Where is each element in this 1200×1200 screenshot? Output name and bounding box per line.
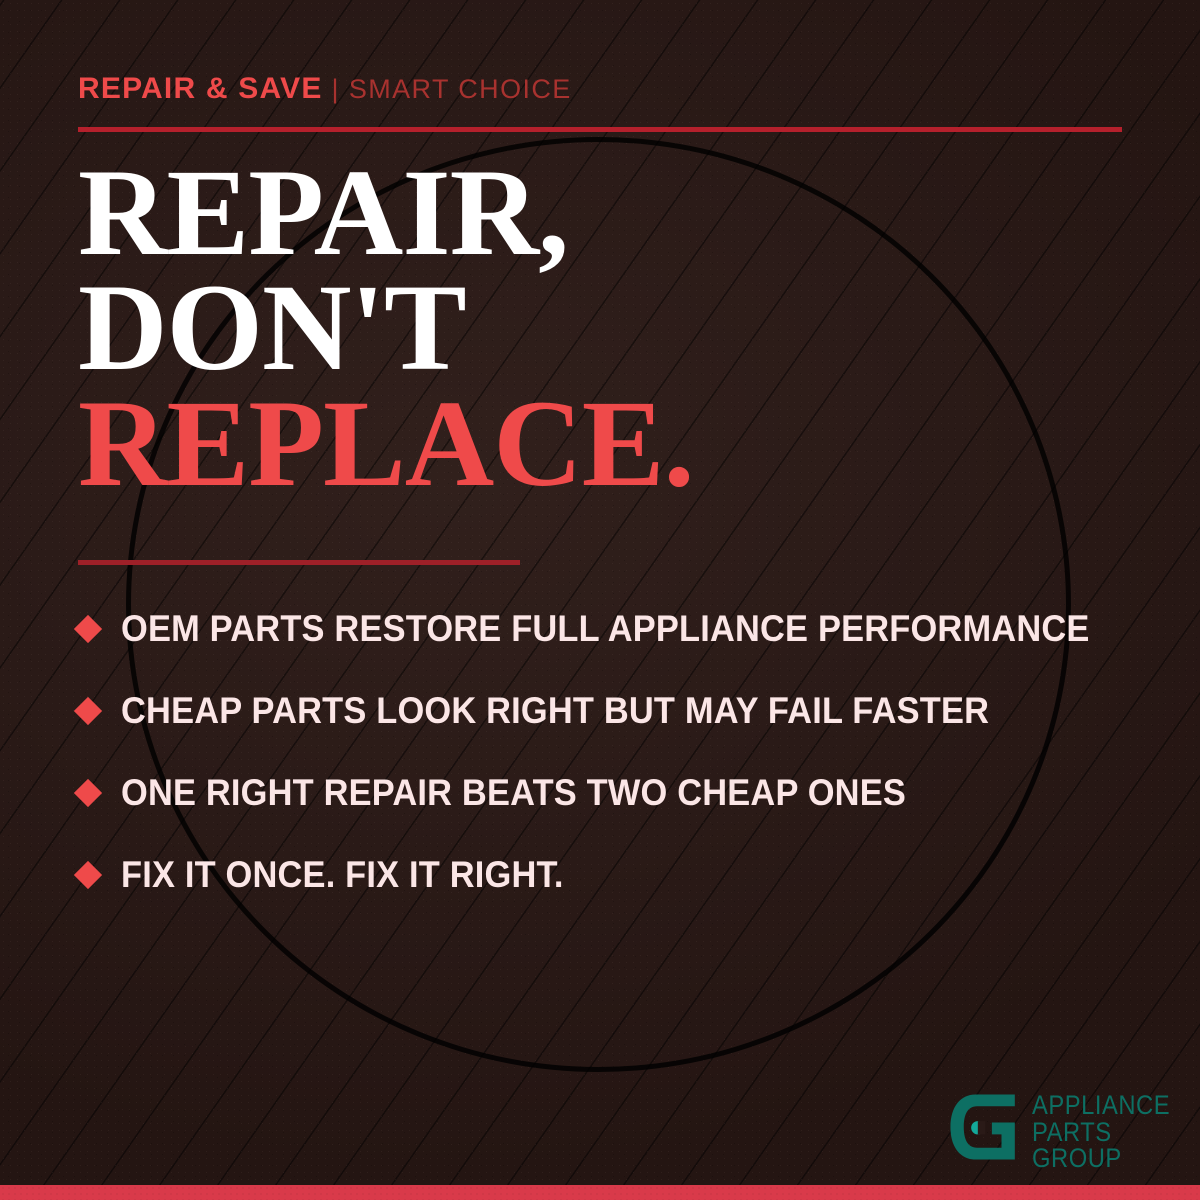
list-item-label: OEM PARTS RESTORE FULL APPLIANCE PERFORM… [121, 608, 1090, 650]
list-item: CHEAP PARTS LOOK RIGHT BUT MAY FAIL FAST… [78, 670, 1148, 752]
bottom-accent-stripe [0, 1185, 1200, 1200]
list-item: FIX IT ONCE. FIX IT RIGHT. [78, 834, 1148, 916]
brand-logo-text: APPLIANCE PARTS GROUP [1032, 1090, 1170, 1172]
brand-line-1: APPLIANCE [1032, 1092, 1170, 1119]
list-item-label: CHEAP PARTS LOOK RIGHT BUT MAY FAIL FAST… [121, 690, 989, 732]
headline-line-2: DON'T [78, 270, 694, 385]
poster-content: REPAIR & SAVE| SMART CHOICE REPAIR, DON'… [0, 0, 1200, 1200]
letter-g-logomark-icon [946, 1090, 1020, 1164]
diamond-icon [74, 615, 102, 643]
brand-logo: APPLIANCE PARTS GROUP [946, 1090, 1189, 1172]
page-title: REPAIR, DON'T REPLACE. [78, 155, 694, 501]
list-item: ONE RIGHT REPAIR BEATS TWO CHEAP ONES [78, 752, 1148, 834]
diamond-icon [74, 861, 102, 889]
headline-line-3: REPLACE. [78, 386, 694, 501]
eyebrow: REPAIR & SAVE| SMART CHOICE [78, 74, 572, 104]
poster-canvas: REPAIR & SAVE| SMART CHOICE REPAIR, DON'… [0, 0, 1200, 1200]
list-item-label: FIX IT ONCE. FIX IT RIGHT. [121, 854, 564, 896]
bullets-divider [78, 560, 520, 565]
eyebrow-light-label: | SMART CHOICE [332, 74, 572, 104]
brand-line-3: GROUP [1032, 1145, 1170, 1172]
diamond-icon [74, 697, 102, 725]
list-item: OEM PARTS RESTORE FULL APPLIANCE PERFORM… [78, 588, 1148, 670]
eyebrow-strong-label: REPAIR & SAVE [78, 72, 323, 105]
diamond-icon [74, 779, 102, 807]
brand-line-2: PARTS [1032, 1119, 1170, 1146]
benefits-list: OEM PARTS RESTORE FULL APPLIANCE PERFORM… [78, 588, 1148, 916]
header-divider [78, 127, 1122, 132]
headline-line-1: REPAIR, [78, 155, 694, 270]
list-item-label: ONE RIGHT REPAIR BEATS TWO CHEAP ONES [121, 772, 906, 814]
bottom-stripe-texture [0, 1185, 1200, 1200]
